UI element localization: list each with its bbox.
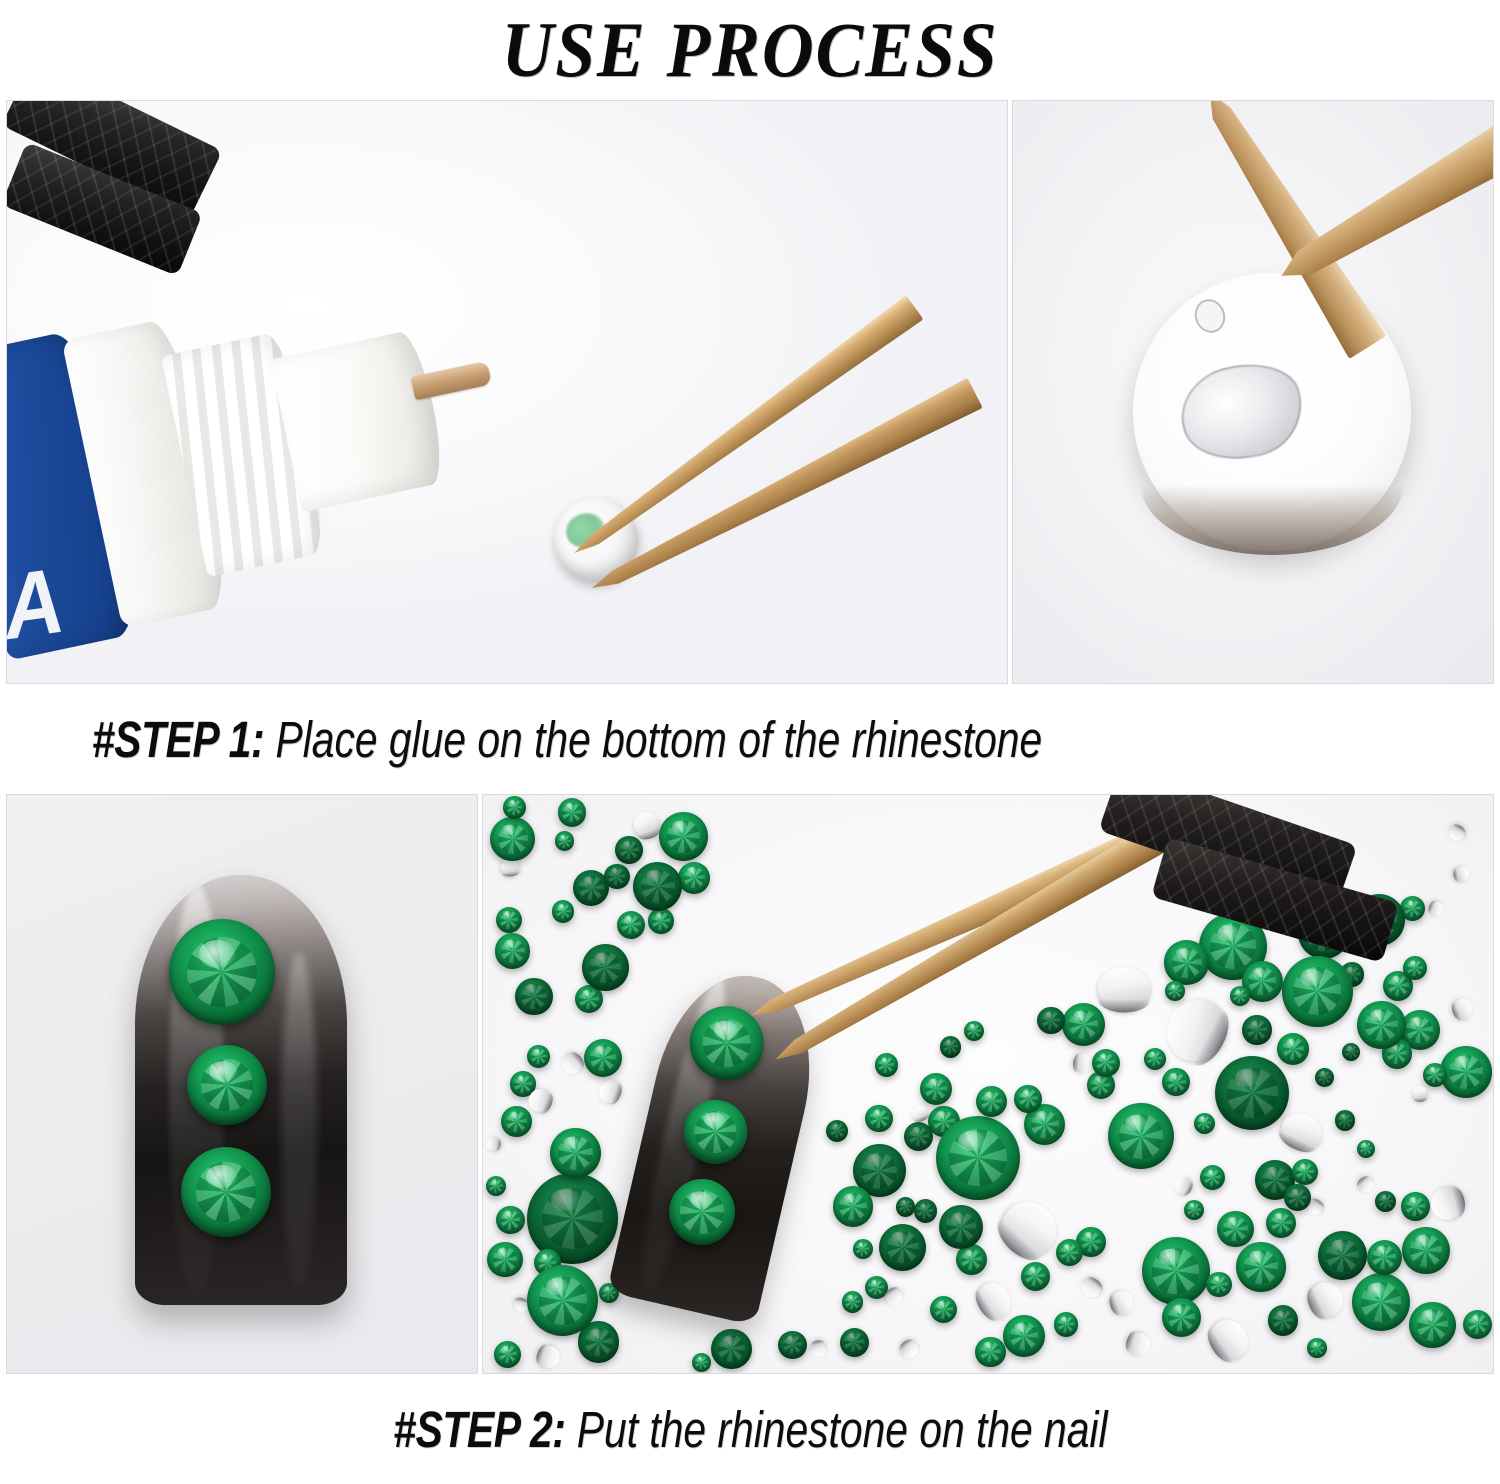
green-rhinestone [1217, 1211, 1253, 1247]
green-rhinestone [1230, 986, 1250, 1006]
green-rhinestone [558, 798, 586, 826]
step-1-caption-bar: #STEP 1: Place glue on the bottom of the… [0, 684, 1500, 794]
rhinestone-flat-back [1356, 1176, 1376, 1196]
rhinestone-flat-back [1125, 1330, 1153, 1358]
green-rhinestone [930, 1296, 957, 1323]
green-rhinestone [778, 1331, 806, 1359]
green-rhinestone [1056, 1239, 1083, 1266]
page-title: USE PROCESS [502, 11, 999, 89]
green-rhinestone [936, 1116, 1020, 1200]
green-rhinestone [1357, 1140, 1376, 1159]
green-rhinestone [939, 1205, 983, 1249]
rhinestone-flat-back [810, 1341, 826, 1357]
green-rhinestone [490, 817, 534, 861]
green-rhinestone [1352, 1273, 1410, 1331]
green-rhinestone [920, 1073, 952, 1105]
green-rhinestone [1206, 1272, 1231, 1297]
green-rhinestone [515, 978, 552, 1015]
glue-bottle-nozzle-cone [270, 329, 449, 513]
rhinestone-flat-back [1109, 1288, 1137, 1317]
green-rhinestone [604, 864, 630, 890]
green-rhinestone [1409, 1302, 1455, 1348]
green-rhinestone [1335, 1110, 1356, 1131]
green-rhinestone [692, 1353, 711, 1372]
green-rhinestone-medium [187, 1045, 267, 1125]
green-rhinestone [1108, 1103, 1174, 1169]
green-rhinestone [1342, 1043, 1360, 1061]
step-2-label: #STEP 2: [393, 1401, 565, 1458]
glue-bubble [1190, 295, 1230, 337]
green-rhinestone [633, 862, 682, 911]
green-rhinestone [914, 1199, 938, 1223]
green-rhinestone [1092, 1049, 1120, 1077]
green-rhinestone [555, 831, 574, 850]
rhinestone-flat-back [1276, 1107, 1328, 1156]
green-rhinestone [1184, 1200, 1204, 1220]
rhinestone-flat-back [972, 1277, 1016, 1324]
rhinestone-flat-back [630, 809, 661, 840]
green-rhinestone [615, 836, 643, 864]
green-rhinestone [486, 1176, 506, 1196]
green-rhinestone [584, 1039, 622, 1077]
green-rhinestone [1144, 1048, 1166, 1070]
green-rhinestone [1318, 1231, 1367, 1280]
header: USE PROCESS [0, 0, 1500, 100]
rhinestone-flat-back [1203, 1313, 1255, 1366]
green-rhinestone [833, 1186, 873, 1226]
nail-gloss-highlight-secondary [281, 952, 317, 1287]
green-rhinestone [842, 1291, 863, 1312]
green-rhinestone [496, 907, 522, 933]
green-rhinestone [659, 812, 708, 861]
green-rhinestone [1236, 1242, 1286, 1292]
step-1-image-row: A [0, 100, 1500, 684]
green-rhinestone [840, 1328, 869, 1357]
green-rhinestone [1403, 956, 1427, 980]
green-rhinestone [1266, 1208, 1296, 1238]
step-2-caption-bar: #STEP 2: Put the rhinestone on the nail [0, 1374, 1500, 1484]
green-rhinestone [879, 1224, 926, 1271]
panel-finished-nail [6, 794, 478, 1374]
black-ombre-nail [135, 875, 347, 1305]
green-rhinestone [617, 911, 645, 939]
green-rhinestone [1142, 1237, 1210, 1305]
panel-glue-macro [1012, 100, 1494, 684]
green-rhinestone [501, 1106, 532, 1137]
rhinestone-flat-back [883, 1287, 905, 1309]
glue-bottle-metal-tip [411, 361, 492, 401]
green-rhinestone [1242, 1015, 1271, 1044]
step-2-image-row [0, 794, 1500, 1374]
rhinestone-flat-back [1171, 1174, 1193, 1196]
green-rhinestone [1003, 1315, 1045, 1357]
rhinestone-flat-back [485, 1136, 500, 1151]
step-1-text: Place glue on the bottom of the rhinesto… [264, 711, 1042, 768]
green-rhinestone-small [181, 1147, 271, 1237]
rhinestone-flat-back [1077, 1275, 1103, 1301]
panel-rhinestone-scatter [482, 794, 1494, 1374]
green-rhinestone [678, 862, 710, 894]
rhinestone-flat-back [596, 1078, 623, 1107]
green-rhinestone [495, 933, 530, 968]
glue-bottle-label-letter: A [6, 560, 68, 650]
green-rhinestone [1215, 1056, 1289, 1130]
green-rhinestone [853, 1239, 873, 1259]
green-rhinestone [1200, 1165, 1225, 1190]
rhinestone-flat-back [1412, 1086, 1427, 1101]
rhinestone-flat-back [1075, 1053, 1093, 1073]
green-rhinestone [527, 1045, 550, 1068]
rhinestone-flat-back [1454, 865, 1471, 882]
green-rhinestone [1062, 1003, 1105, 1046]
green-rhinestone [975, 1337, 1005, 1367]
rhinestone-flat-back [1305, 1277, 1349, 1322]
green-rhinestone [1357, 1001, 1405, 1049]
green-rhinestone [487, 1242, 523, 1278]
rhinestone-flat-back [1428, 1186, 1465, 1223]
green-rhinestone [1165, 981, 1185, 1001]
green-rhinestone [527, 1265, 598, 1336]
green-rhinestone [494, 1341, 521, 1368]
green-rhinestone [1277, 1033, 1309, 1065]
green-rhinestone [1164, 940, 1209, 985]
panel-glue-bottle: A [6, 100, 1008, 684]
green-rhinestone [1021, 1262, 1050, 1291]
green-rhinestone [711, 1329, 751, 1369]
green-rhinestone [1367, 1240, 1402, 1275]
rhinestone-flat-back [898, 1338, 921, 1361]
green-rhinestone [1194, 1113, 1215, 1134]
green-rhinestone [1402, 1227, 1450, 1275]
rhinestone-flat-back [536, 1343, 563, 1371]
green-rhinestone [1315, 1068, 1334, 1087]
green-rhinestone [582, 944, 629, 991]
step-2-caption: #STEP 2: Put the rhinestone on the nail [393, 1404, 1107, 1455]
green-rhinestone [1162, 1068, 1190, 1096]
green-rhinestone [964, 1021, 984, 1041]
green-rhinestone [1054, 1312, 1078, 1336]
green-rhinestone [875, 1053, 898, 1076]
green-rhinestone [896, 1197, 916, 1217]
green-rhinestone [1268, 1305, 1299, 1336]
green-rhinestone [550, 1128, 600, 1178]
rhinestone-flat-back [1451, 996, 1476, 1022]
green-rhinestone [865, 1105, 893, 1133]
rhinestone-flat-back [558, 1050, 585, 1077]
green-rhinestone [1282, 956, 1353, 1027]
step-1-caption: #STEP 1: Place glue on the bottom of the… [92, 714, 1042, 765]
green-rhinestone [1463, 1310, 1492, 1339]
green-rhinestone [904, 1122, 933, 1151]
step-1-label: #STEP 1: [92, 711, 264, 768]
green-rhinestone [826, 1120, 848, 1142]
green-rhinestone-large [169, 919, 275, 1025]
green-rhinestone [1307, 1338, 1327, 1358]
green-rhinestone [503, 796, 526, 819]
green-rhinestone [1292, 1159, 1318, 1185]
green-rhinestone [496, 1206, 525, 1235]
green-rhinestone [1162, 1298, 1201, 1337]
green-rhinestone [552, 900, 574, 922]
green-rhinestone [976, 1086, 1007, 1117]
green-rhinestone [1014, 1085, 1042, 1113]
rhinestone-flat-back [513, 1299, 529, 1313]
green-rhinestone [1037, 1007, 1064, 1034]
rhinestone-flat-back [1098, 967, 1151, 1011]
glue-drop [1171, 352, 1312, 473]
rhinestone-flat-back [1156, 990, 1234, 1071]
green-rhinestone [648, 908, 673, 933]
rhinestone-flat-back [1428, 900, 1445, 918]
green-rhinestone [1375, 1191, 1396, 1212]
green-rhinestone [1401, 1192, 1429, 1220]
step-2-text: Put the rhinestone on the nail [565, 1401, 1107, 1458]
green-rhinestone [1440, 1046, 1491, 1097]
rhinestone-flat-back [1447, 824, 1467, 843]
green-rhinestone [940, 1036, 962, 1058]
